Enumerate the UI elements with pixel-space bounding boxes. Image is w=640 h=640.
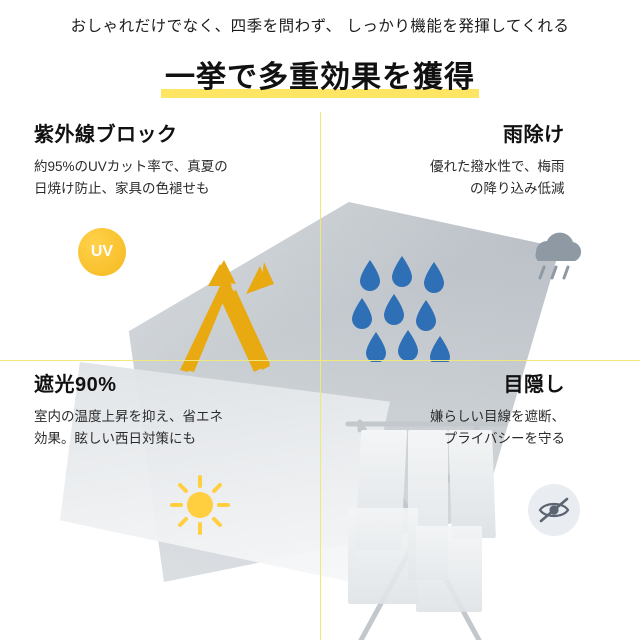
feature-body-line: 優れた撥水性で、梅雨 bbox=[430, 156, 564, 178]
feature-body-line: の降り込み低減 bbox=[430, 178, 564, 200]
uv-badge-icon: UV bbox=[78, 228, 126, 276]
hanging-cloth bbox=[416, 526, 482, 612]
feature-body-line: 嫌らしい目線を遮断、 bbox=[430, 406, 565, 428]
feature-body: 優れた撥水性で、梅雨 の降り込み低減 bbox=[430, 156, 564, 200]
headline-container: 一挙で多重効果を獲得 bbox=[0, 52, 640, 98]
feature-title: 紫外線ブロック bbox=[34, 118, 228, 147]
feature-title: 雨除け bbox=[430, 118, 564, 147]
hanging-cloth bbox=[348, 508, 418, 604]
feature-rain-protection: 雨除け 優れた撥水性で、梅雨 の降り込み低減 bbox=[430, 118, 564, 200]
uv-reflection-arrows bbox=[150, 242, 290, 372]
feature-body-line: 約95%のUVカット率で、真夏の bbox=[34, 156, 228, 178]
feature-title: 遮光90% bbox=[34, 368, 223, 397]
feature-body-line: 室内の温度上昇を抑え、省エネ bbox=[34, 406, 223, 428]
feature-uv-block: 紫外線ブロック 約95%のUVカット率で、真夏の 日焼け防止、家具の色褪せも bbox=[34, 118, 228, 200]
feature-body: 約95%のUVカット率で、真夏の 日焼け防止、家具の色褪せも bbox=[34, 156, 228, 200]
uv-badge-label: UV bbox=[91, 243, 113, 261]
no-peeking-eye-icon bbox=[528, 484, 580, 536]
quadrant-divider-horizontal bbox=[0, 360, 640, 361]
raindrops-group bbox=[350, 252, 460, 362]
feature-body: 嫌らしい目線を遮断、 プライバシーを守る bbox=[430, 406, 565, 450]
feature-body: 室内の温度上昇を抑え、省エネ 効果。眩しい西日対策にも bbox=[34, 406, 223, 450]
headline-text: 一挙で多重効果を獲得 bbox=[165, 61, 475, 94]
rain-cloud-icon bbox=[520, 218, 590, 284]
feature-title: 目隠し bbox=[430, 368, 565, 397]
quadrant-divider-vertical bbox=[320, 112, 321, 640]
feature-shading-90: 遮光90% 室内の温度上昇を抑え、省エネ 効果。眩しい西日対策にも bbox=[34, 368, 223, 450]
feature-body-line: プライバシーを守る bbox=[430, 428, 565, 450]
page-title: 一挙で多重効果を獲得 bbox=[161, 52, 479, 98]
feature-privacy: 目隠し 嫌らしい目線を遮断、 プライバシーを守る bbox=[430, 368, 565, 450]
feature-body-line: 日焼け防止、家具の色褪せも bbox=[34, 178, 228, 200]
lead-text: おしゃれだけでなく、四季を問わず、 しっかり機能を発揮してくれる bbox=[0, 14, 640, 36]
poster-canvas: おしゃれだけでなく、四季を問わず、 しっかり機能を発揮してくれる 一挙で多重効果… bbox=[0, 0, 640, 640]
feature-body-line: 効果。眩しい西日対策にも bbox=[34, 428, 223, 450]
sun-icon bbox=[168, 474, 232, 536]
